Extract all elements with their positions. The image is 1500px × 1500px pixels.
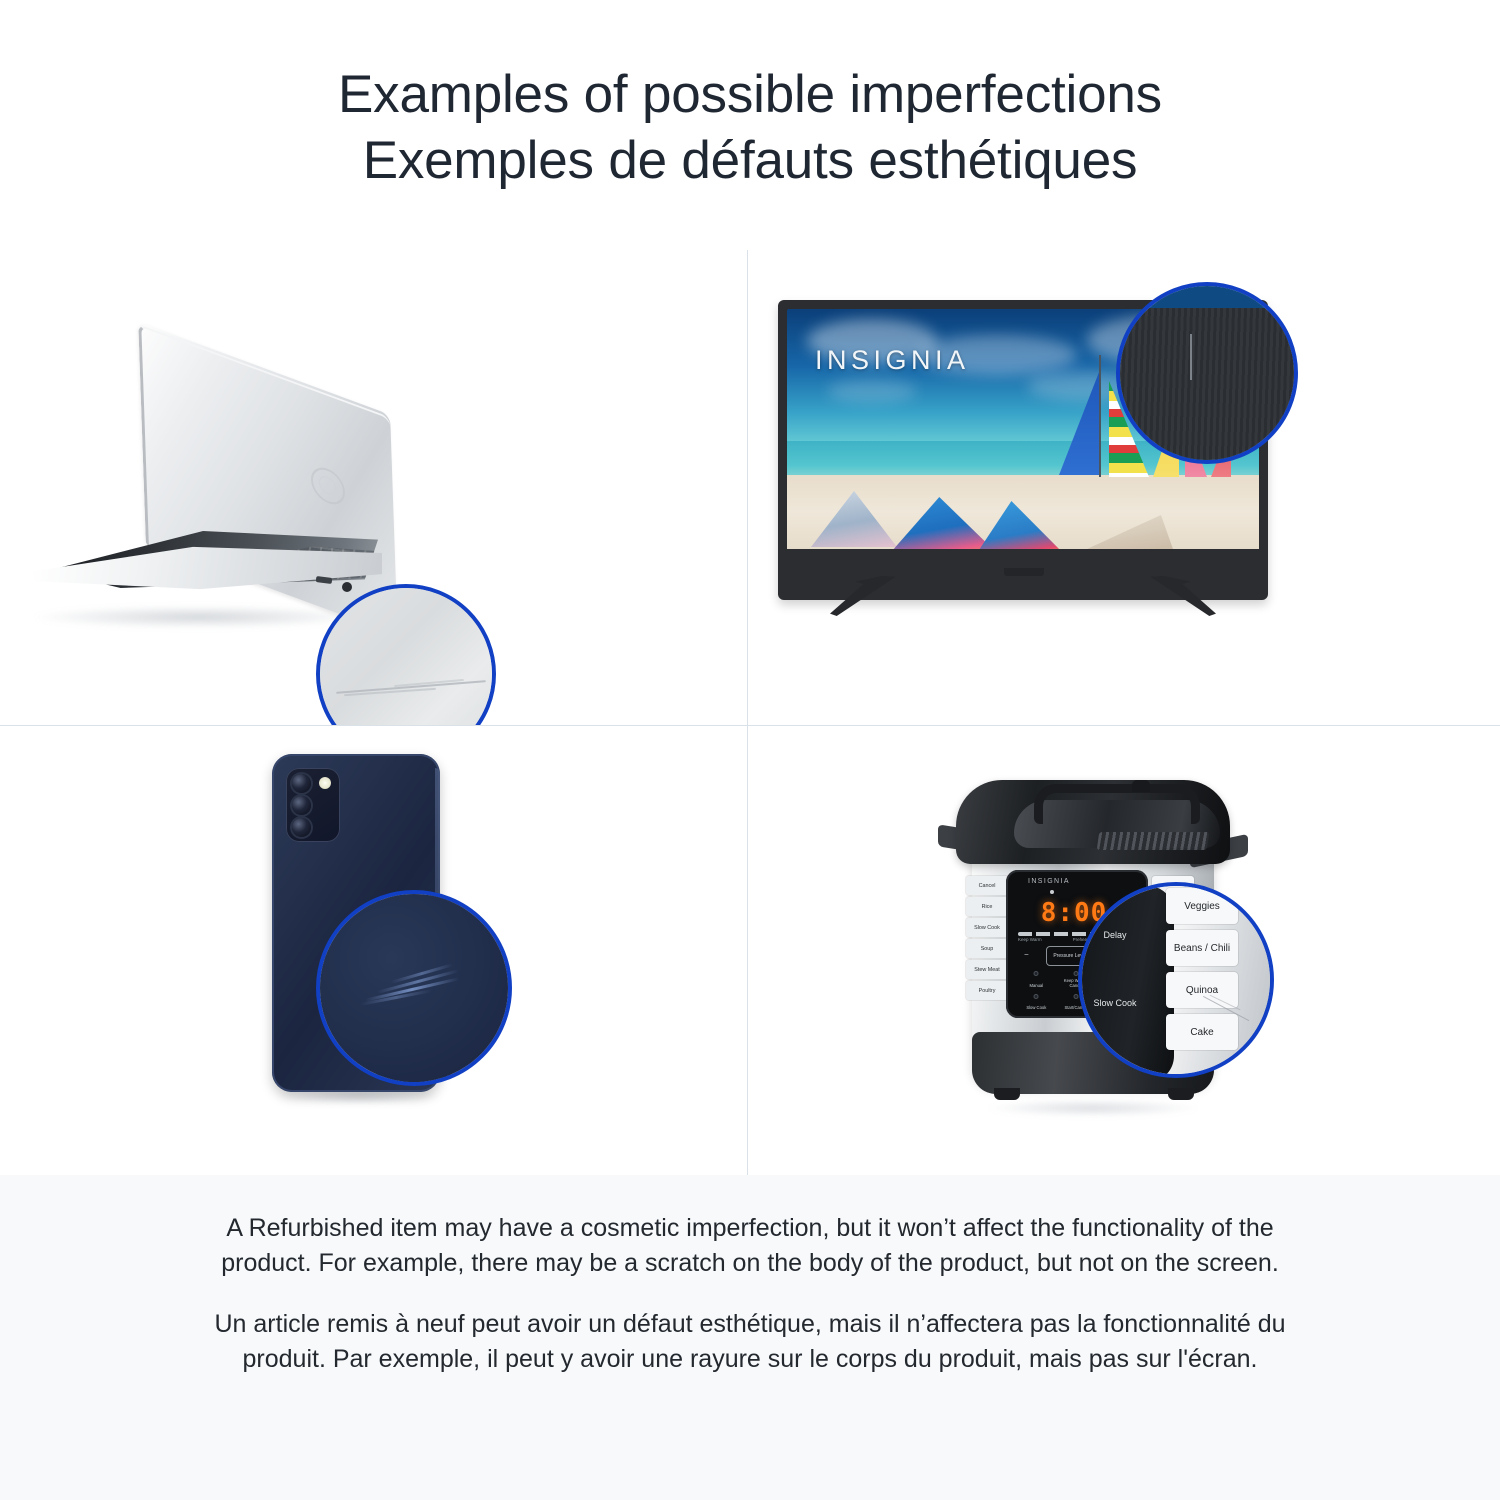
phone-flash-icon (319, 777, 331, 789)
magnifier-phone-scratch (316, 890, 512, 1086)
smartphone-illustration (0, 726, 747, 1175)
example-cell-pressure-cooker: Cancel Rice Slow Cook Soup Stew Meat Pou… (748, 726, 1500, 1175)
phone-camera-lens-icon (292, 774, 311, 793)
laptop-scratch-mark (334, 680, 486, 694)
cooker-brand-logo: INSIGNIA (1028, 878, 1070, 885)
cooker-pressure-valve-icon[interactable] (1132, 780, 1150, 792)
cooker-magnified-left-label: Slow Cook (1084, 998, 1146, 1008)
tv-bottom-bezel (787, 549, 1259, 570)
page-title-fr: Exemples de défauts esthétiques (363, 128, 1138, 194)
page-title-en: Examples of possible imperfections (338, 62, 1162, 128)
cooker-key[interactable]: Manual (1018, 970, 1055, 990)
cooker-foot (994, 1088, 1020, 1100)
cooker-button[interactable]: Cancel (966, 876, 1008, 895)
cooker-scratch-mark (1200, 998, 1256, 1028)
footer-paragraph-fr: Un article remis à neuf peut avoir un dé… (190, 1307, 1310, 1377)
cooker-minus-icon[interactable]: − (1024, 950, 1029, 959)
magnifier-cooker-scratch: Delay Slow Cook Veggies Beans / Chili Qu… (1078, 882, 1274, 1078)
cooker-progress-label-left: Keep Warm (1018, 937, 1042, 942)
laptop-shadow (34, 606, 364, 628)
phone-scratch-mark (360, 968, 478, 1010)
cooker-key[interactable]: Slow Cook (1018, 993, 1055, 1013)
cooker-magnified-button: Beans / Chili (1166, 930, 1238, 966)
cooker-magnified-panel: Delay Slow Cook (1082, 886, 1174, 1074)
tv-bezel-scuff-mark (1190, 334, 1192, 380)
cooker-button[interactable]: Poultry (966, 981, 1008, 1000)
television-illustration: INSIGNIA (748, 250, 1500, 725)
example-cell-television: INSIGNIA (748, 250, 1500, 725)
cooker-button[interactable]: Stew Meat (966, 960, 1008, 979)
cooker-left-button-column[interactable]: Cancel Rice Slow Cook Soup Stew Meat Pou… (966, 876, 1008, 1000)
laptop-illustration (0, 250, 747, 725)
example-cell-laptop (0, 250, 747, 725)
tv-ir-sensor-icon (1004, 568, 1044, 576)
cooker-button[interactable]: Soup (966, 939, 1008, 958)
tv-scene-mast (1099, 355, 1101, 477)
header: Examples of possible imperfections Exemp… (0, 0, 1500, 250)
tv-magnified-bezel (1120, 308, 1294, 460)
cooker-magnified-button: Veggies (1166, 888, 1238, 924)
phone-camera-module (286, 768, 340, 842)
phone-camera-lens-icon (292, 818, 311, 837)
infographic-page: Examples of possible imperfections Exemp… (0, 0, 1500, 1500)
product-example-grid: INSIGNIA (0, 250, 1500, 1175)
example-cell-smartphone (0, 726, 747, 1175)
cooker-status-led-icon (1050, 890, 1054, 894)
cooker-lid (956, 780, 1230, 864)
pressure-cooker-illustration: Cancel Rice Slow Cook Soup Stew Meat Pou… (748, 726, 1500, 1175)
tv-brand-logo: INSIGNIA (815, 345, 970, 376)
cooker-button[interactable]: Slow Cook (966, 918, 1008, 937)
phone-camera-lens-icon (292, 796, 311, 815)
cooker-shadow (988, 1100, 1198, 1116)
cooker-magnified-left-label: Delay (1084, 930, 1146, 940)
cooker-lid-vent (1097, 832, 1210, 850)
cooker-button[interactable]: Rice (966, 897, 1008, 916)
footer-paragraph-en: A Refurbished item may have a cosmetic i… (190, 1211, 1310, 1281)
footer: A Refurbished item may have a cosmetic i… (0, 1175, 1500, 1500)
magnifier-tv-bezel-scuff (1116, 282, 1298, 464)
cooker-lid-handle[interactable] (1034, 784, 1200, 824)
magnifier-laptop-scratch (316, 584, 496, 725)
cooker-foot (1168, 1088, 1194, 1100)
